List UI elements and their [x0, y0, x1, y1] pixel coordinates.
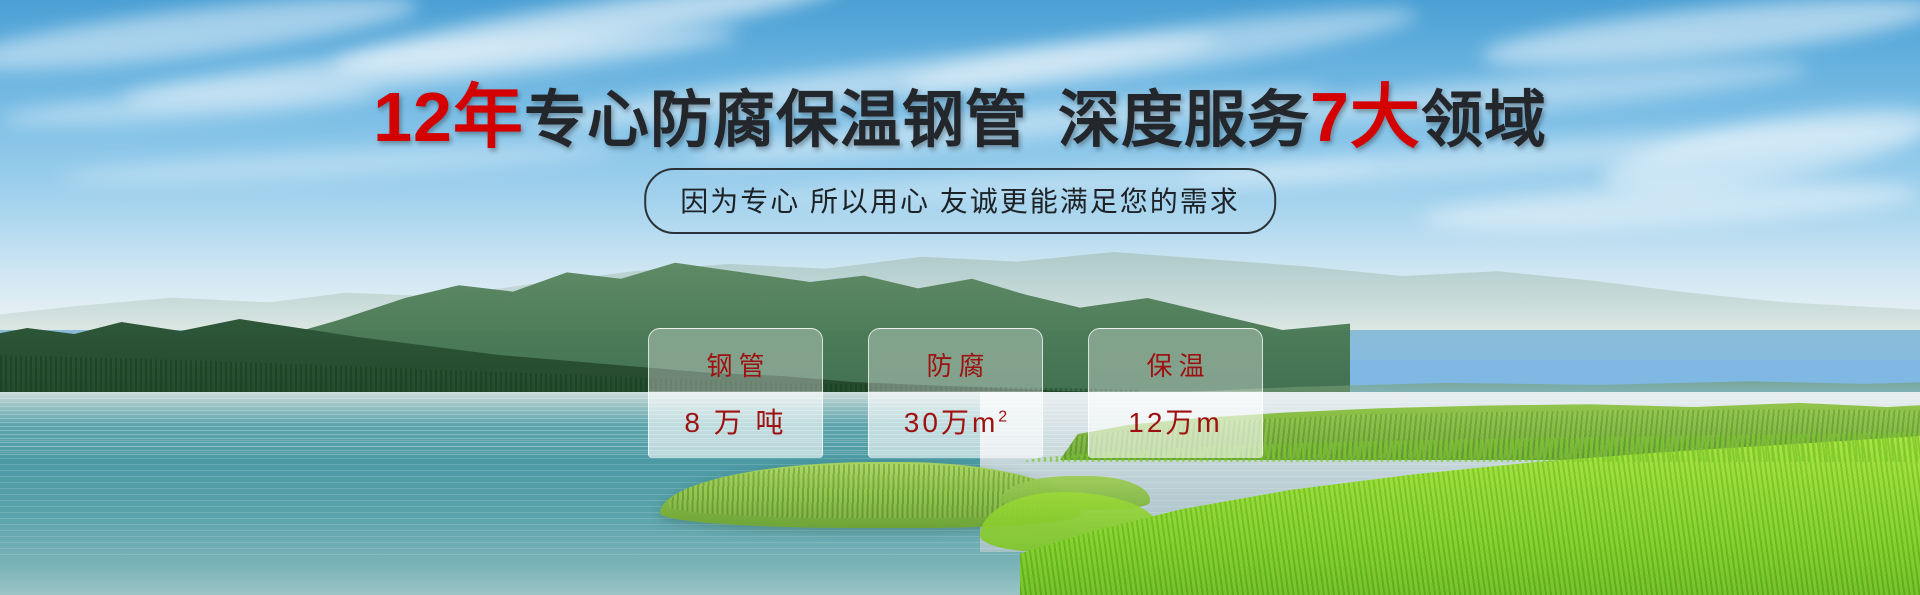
headline-text-primary: 专心防腐保温钢管 [524, 86, 1028, 155]
stat-card-steel-pipe[interactable]: 钢管 8 万 吨 [648, 328, 823, 458]
stat-card-value-superscript: 2 [998, 409, 1007, 426]
headline-text-secondary: 深度服务 [1058, 86, 1310, 155]
stat-card-group: 钢管 8 万 吨 防腐 30万m2 保温 12万m [648, 328, 1263, 458]
headline-highlight-fields: 7大 [1310, 78, 1421, 156]
stat-card-value-base: 30万m [904, 407, 998, 438]
stat-card-title: 保温 [1140, 346, 1210, 383]
stat-card-value: 30万m2 [904, 401, 1007, 441]
stat-card-anticorrosion[interactable]: 防腐 30万m2 [868, 328, 1043, 458]
stat-card-insulation[interactable]: 保温 12万m [1088, 328, 1263, 458]
stat-card-value: 8 万 吨 [684, 401, 786, 441]
headline-highlight-years: 12年 [373, 78, 524, 156]
banner-subtitle-pill: 因为专心 所以用心 友诚更能满足您的需求 [644, 168, 1276, 234]
stat-card-title: 钢管 [700, 346, 770, 383]
promo-banner: 12年专心防腐保温钢管深度服务7大领域 因为专心 所以用心 友诚更能满足您的需求… [0, 0, 1920, 595]
headline-text-tertiary: 领域 [1421, 86, 1547, 155]
stat-card-value-base: 12万m [1128, 407, 1222, 438]
banner-subtitle-text: 因为专心 所以用心 友诚更能满足您的需求 [680, 186, 1240, 217]
stat-card-value-base: 8 万 吨 [684, 407, 786, 438]
banner-headline: 12年专心防腐保温钢管深度服务7大领域 [0, 82, 1920, 152]
stat-card-title: 防腐 [920, 346, 990, 383]
stat-card-value: 12万m [1128, 401, 1222, 441]
